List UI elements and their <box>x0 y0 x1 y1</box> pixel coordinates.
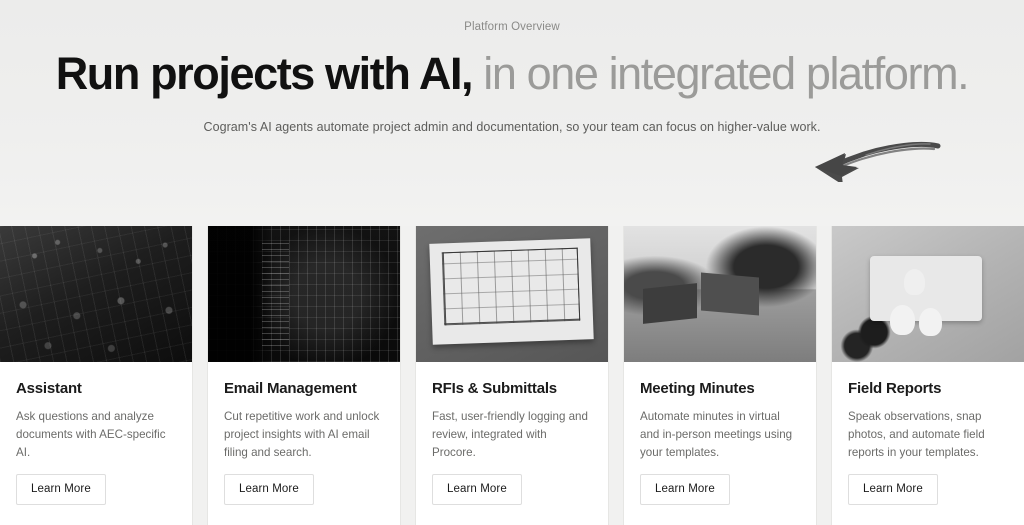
card-description: Automate minutes in virtual and in-perso… <box>640 408 800 462</box>
left-arrow-annotation <box>812 140 942 182</box>
card-footer: Learn More <box>0 474 192 525</box>
card-body: Field Reports Speak observations, snap p… <box>832 362 1024 474</box>
card-body: Assistant Ask questions and analyze docu… <box>0 362 192 474</box>
card-description: Fast, user-friendly logging and review, … <box>432 408 592 462</box>
feature-card-field-reports[interactable]: Field Reports Speak observations, snap p… <box>831 226 1024 525</box>
card-title: Field Reports <box>848 380 1008 397</box>
hero-section: Platform Overview Run projects with AI, … <box>0 0 1024 226</box>
card-title: Meeting Minutes <box>640 380 800 397</box>
card-footer: Learn More <box>208 474 400 525</box>
card-description: Ask questions and analyze documents with… <box>16 408 176 462</box>
learn-more-button[interactable]: Learn More <box>224 474 314 505</box>
card-footer: Learn More <box>832 474 1024 525</box>
card-body: Meeting Minutes Automate minutes in virt… <box>624 362 816 474</box>
feature-cards-row: Assistant Ask questions and analyze docu… <box>0 226 1024 525</box>
learn-more-button[interactable]: Learn More <box>432 474 522 505</box>
card-footer: Learn More <box>416 474 608 525</box>
card-image-construction-site <box>832 226 1024 362</box>
learn-more-button[interactable]: Learn More <box>640 474 730 505</box>
card-image-meeting <box>624 226 816 362</box>
learn-more-button[interactable]: Learn More <box>16 474 106 505</box>
learn-more-button[interactable]: Learn More <box>848 474 938 505</box>
card-image-cad-monitor <box>208 226 400 362</box>
card-title: Email Management <box>224 380 384 397</box>
card-body: RFIs & Submittals Fast, user-friendly lo… <box>416 362 608 474</box>
card-description: Speak observations, snap photos, and aut… <box>848 408 1008 462</box>
feature-card-rfis-submittals[interactable]: RFIs & Submittals Fast, user-friendly lo… <box>415 226 609 525</box>
card-description: Cut repetitive work and unlock project i… <box>224 408 384 462</box>
card-image-circuit-board <box>0 226 192 362</box>
eyebrow-label: Platform Overview <box>0 21 1024 35</box>
hand-drawn-left-arrow-icon <box>812 140 942 182</box>
headline-muted: in one integrated platform. <box>472 48 968 99</box>
feature-card-email-management[interactable]: Email Management Cut repetitive work and… <box>207 226 401 525</box>
card-footer: Learn More <box>624 474 816 525</box>
card-body: Email Management Cut repetitive work and… <box>208 362 400 474</box>
card-image-blueprints <box>416 226 608 362</box>
hero-subheading: Cogram's AI agents automate project admi… <box>0 120 1024 134</box>
headline-emphasis: Run projects with AI, <box>56 48 472 99</box>
platform-overview-page: Platform Overview Run projects with AI, … <box>0 0 1024 525</box>
feature-card-meeting-minutes[interactable]: Meeting Minutes Automate minutes in virt… <box>623 226 817 525</box>
card-title: Assistant <box>16 380 176 397</box>
feature-card-assistant[interactable]: Assistant Ask questions and analyze docu… <box>0 226 193 525</box>
page-title: Run projects with AI, in one integrated … <box>0 51 1024 97</box>
card-title: RFIs & Submittals <box>432 380 592 397</box>
